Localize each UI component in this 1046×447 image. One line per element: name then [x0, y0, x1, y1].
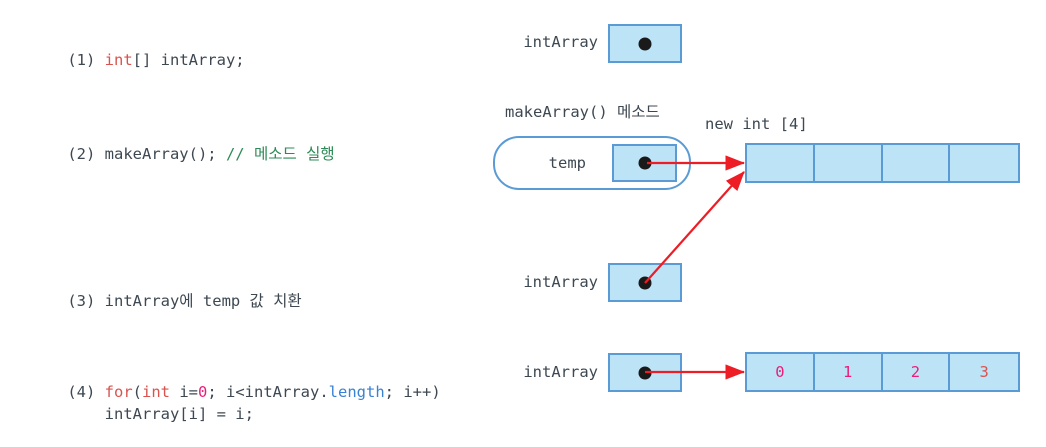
array-reference-diagram: (1) int[] intArray; intArray (2) makeArr… — [0, 0, 1046, 447]
step-4-token-8: ; i++) — [385, 383, 441, 401]
step-1-reference-dot — [639, 37, 652, 50]
step-2-code: (2) makeArray(); // 메소드 실행 — [30, 121, 335, 187]
step-2-variable-label: temp — [500, 154, 586, 172]
array-cell — [815, 145, 883, 181]
step-3-reference-box — [608, 263, 682, 302]
step-1-token-1: int — [105, 51, 133, 69]
step-4-token-7: length — [329, 383, 385, 401]
step-3-code: (3) intArray에 temp 값 치환 — [30, 268, 302, 334]
array-cell: 0 — [747, 354, 815, 390]
step-2-temp-reference-box — [612, 144, 677, 182]
step-1-reference-box — [608, 24, 682, 63]
array-cell — [747, 145, 815, 181]
step-4-variable-label: intArray — [488, 363, 598, 381]
array-cell: 1 — [815, 354, 883, 390]
array-cell: 3 — [950, 354, 1018, 390]
step-4-code-line2: intArray[i] = i; — [30, 381, 254, 447]
array-cell — [883, 145, 951, 181]
step-2-method-frame-label: makeArray() 메소드 — [505, 100, 660, 122]
step-4-filled-array: 0 1 2 3 — [745, 352, 1020, 392]
step-1-token-2: [] intArray; — [133, 51, 245, 69]
step-2-temp-reference-dot — [638, 157, 651, 170]
step-3-token-0: (3) intArray에 temp 값 치환 — [67, 292, 301, 310]
step-3-reference-dot — [639, 276, 652, 289]
step-3-variable-label: intArray — [488, 273, 598, 291]
step-4-reference-dot — [639, 366, 652, 379]
step-1-code: (1) int[] intArray; — [30, 27, 245, 93]
step-2-token-0: (2) makeArray(); — [67, 145, 226, 163]
step-2-token-1: // 메소드 실행 — [226, 145, 335, 163]
step-1-variable-label: intArray — [488, 33, 598, 51]
step-2-array-label: new int [4] — [705, 115, 808, 133]
step-4-reference-box — [608, 353, 682, 392]
step-2-new-array — [745, 143, 1020, 183]
step-4-line2-token-0: intArray[i] = i; — [67, 405, 254, 423]
step-1-token-0: (1) — [67, 51, 104, 69]
array-cell: 2 — [883, 354, 951, 390]
array-cell — [950, 145, 1018, 181]
